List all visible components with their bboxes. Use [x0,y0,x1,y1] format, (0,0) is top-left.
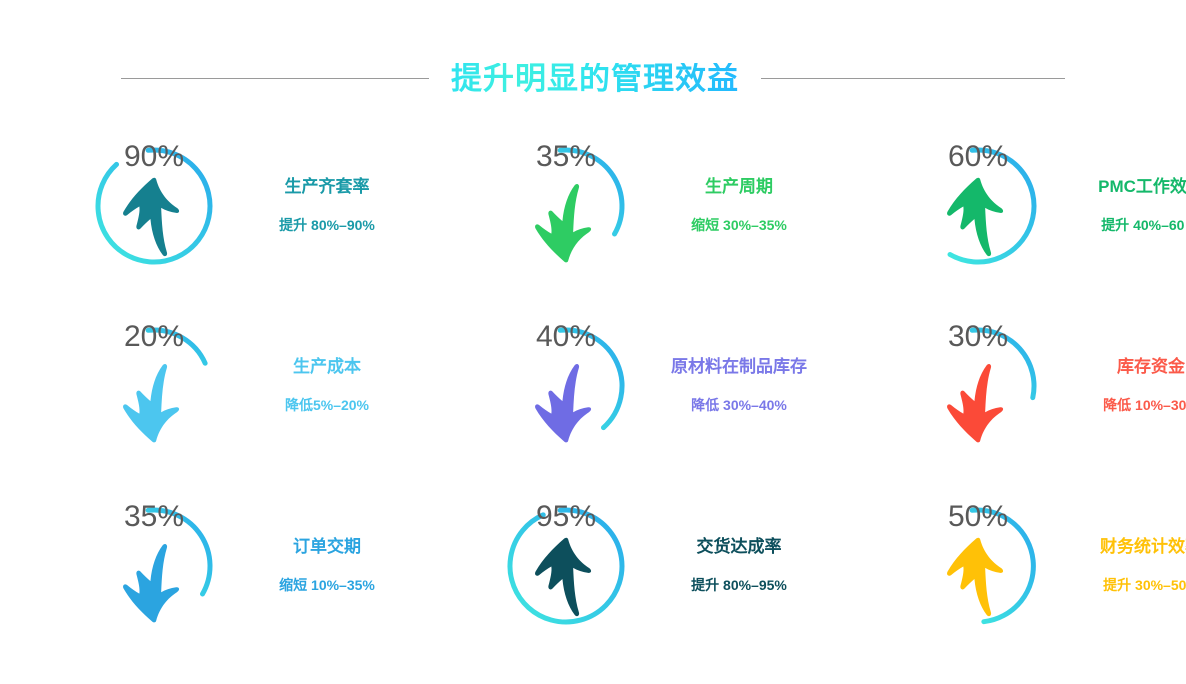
gauge-center: 35% [92,504,216,628]
gauge-title: 生产齐套率 [285,178,370,197]
progress-gauge[interactable]: 95% [504,504,628,628]
down-arrow-icon [504,175,628,268]
gauge-title: 原材料在制品库存 [671,358,807,377]
gauge-value: 35% [536,142,596,172]
gauge-title: 库存资金 [1117,358,1185,377]
gauge-value: 50% [948,502,1008,532]
gauge-title: 交货达成率 [697,538,782,557]
gauge-labels: 订单交期缩短 10%–35% [242,538,412,593]
gauge-cell: 60%PMC工作效率提升 40%–60 % [824,116,1186,296]
gauge-cell: 20%生产成本降低5%–20% [0,296,412,476]
progress-gauge[interactable]: 35% [92,504,216,628]
gauge-title: PMC工作效率 [1098,178,1186,197]
gauge-labels: 原材料在制品库存降低 30%–40% [654,358,824,413]
gauge-subtitle: 降低5%–20% [285,398,369,413]
gauge-cell: 30%库存资金降低 10%–30% [824,296,1186,476]
gauge-cell: 40%原材料在制品库存降低 30%–40% [412,296,824,476]
gauge-center: 50% [916,504,1040,628]
gauge-subtitle: 降低 10%–30% [1103,398,1186,413]
header-rule-right [761,78,1065,79]
gauge-center: 40% [504,324,628,448]
page-title: 提升明显的管理效益 [451,63,739,94]
gauge-cell: 90%生产齐套率提升 80%–90% [0,116,412,296]
gauge-value: 40% [536,322,596,352]
gauge-labels: 生产成本降低5%–20% [242,358,412,413]
gauge-labels: 库存资金降低 10%–30% [1066,358,1186,413]
down-arrow-icon [916,355,1040,448]
gauge-value: 30% [948,322,1008,352]
gauge-title: 财务统计效率 [1100,538,1186,557]
gauge-grid: 90%生产齐套率提升 80%–90%35%生产周期缩短 30%–35%60%PM… [0,116,1186,656]
gauge-value: 20% [124,322,184,352]
up-arrow-icon [504,535,628,628]
gauge-cell: 50%财务统计效率提升 30%–50% [824,476,1186,656]
gauge-center: 60% [916,144,1040,268]
gauge-labels: 交货达成率提升 80%–95% [654,538,824,593]
gauge-value: 60% [948,142,1008,172]
progress-gauge[interactable]: 60% [916,144,1040,268]
gauge-subtitle: 提升 30%–50% [1103,578,1186,593]
gauge-title: 订单交期 [293,538,361,557]
gauge-subtitle: 提升 80%–90% [279,218,375,233]
gauge-value: 95% [536,502,596,532]
gauge-subtitle: 缩短 10%–35% [279,578,375,593]
gauge-cell: 35%订单交期缩短 10%–35% [0,476,412,656]
gauge-center: 30% [916,324,1040,448]
gauge-value: 35% [124,502,184,532]
gauge-labels: PMC工作效率提升 40%–60 % [1066,178,1186,233]
gauge-center: 95% [504,504,628,628]
up-arrow-icon [92,175,216,268]
gauge-center: 35% [504,144,628,268]
down-arrow-icon [92,535,216,628]
gauge-title: 生产成本 [293,358,361,377]
progress-gauge[interactable]: 90% [92,144,216,268]
gauge-subtitle: 缩短 30%–35% [691,218,787,233]
gauge-subtitle: 降低 30%–40% [691,398,787,413]
gauge-labels: 生产周期缩短 30%–35% [654,178,824,233]
gauge-value: 90% [124,142,184,172]
up-arrow-icon [916,535,1040,628]
page-header: 提升明显的管理效益 [0,52,1186,104]
down-arrow-icon [92,355,216,448]
gauge-center: 20% [92,324,216,448]
gauge-labels: 财务统计效率提升 30%–50% [1066,538,1186,593]
gauge-center: 90% [92,144,216,268]
header-rule-left [121,78,429,79]
gauge-subtitle: 提升 40%–60 % [1101,218,1186,233]
down-arrow-icon [504,355,628,448]
gauge-title: 生产周期 [705,178,773,197]
progress-gauge[interactable]: 35% [504,144,628,268]
gauge-cell: 35%生产周期缩短 30%–35% [412,116,824,296]
up-arrow-icon [916,175,1040,268]
progress-gauge[interactable]: 40% [504,324,628,448]
progress-gauge[interactable]: 20% [92,324,216,448]
gauge-labels: 生产齐套率提升 80%–90% [242,178,412,233]
gauge-cell: 95%交货达成率提升 80%–95% [412,476,824,656]
gauge-subtitle: 提升 80%–95% [691,578,787,593]
progress-gauge[interactable]: 30% [916,324,1040,448]
progress-gauge[interactable]: 50% [916,504,1040,628]
